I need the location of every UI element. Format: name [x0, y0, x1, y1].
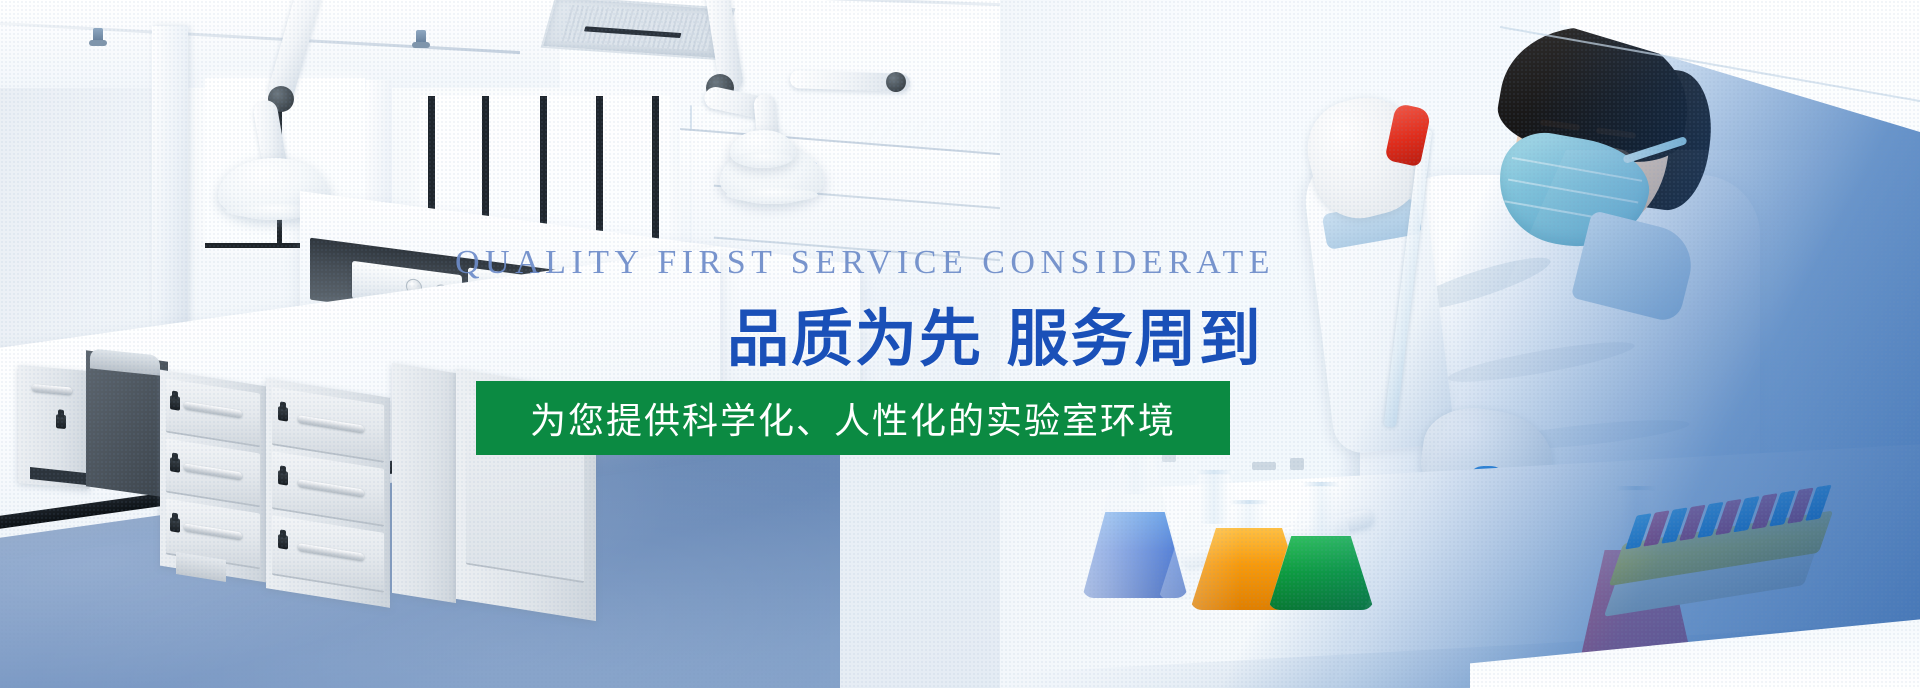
banner-subtitle-bar: 为您提供科学化、人性化的实验室环境	[476, 381, 1230, 455]
banner-headline: 品质为先 服务周到	[727, 288, 1263, 378]
banner-text-layer: QUALITY FIRST SERVICE CONSIDERATE 品质为先 服…	[0, 0, 1920, 688]
banner-subtitle-text: 为您提供科学化、人性化的实验室环境	[530, 392, 1176, 444]
banner-eyebrow-text: QUALITY FIRST SERVICE CONSIDERATE	[455, 244, 1275, 282]
hero-banner: QUALITY FIRST SERVICE CONSIDERATE 品质为先 服…	[0, 0, 1920, 688]
